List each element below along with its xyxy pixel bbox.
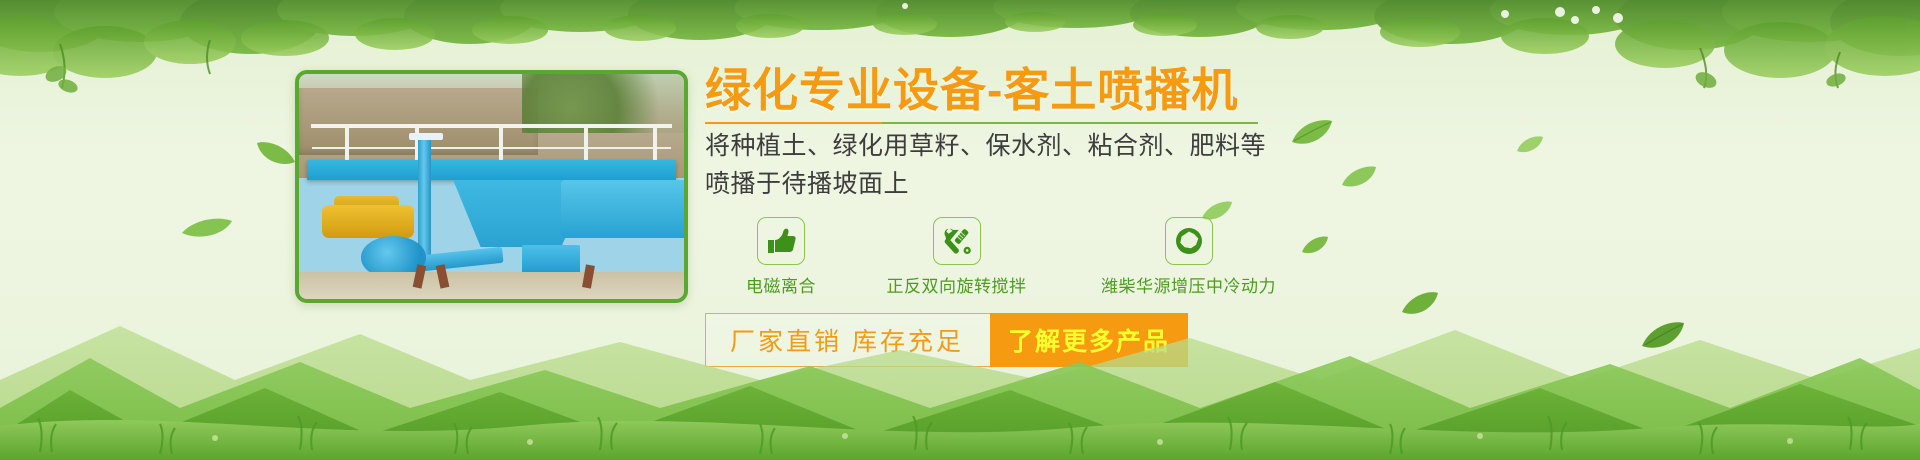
banner-content: 绿化专业设备-客土喷播机 将种植土、绿化用草籽、保水剂、粘合剂、肥料等 喷播于待… (705, 66, 1405, 367)
feature-label-3: 潍柴华源增压中冷动力 (1101, 272, 1276, 297)
thumbs-up-icon (757, 217, 805, 265)
feature-item-1[interactable]: 电磁离合 (705, 217, 857, 297)
page-title: 绿化专业设备-客土喷播机 (705, 66, 1405, 116)
subtitle-line-1: 将种植土、绿化用草籽、保水剂、粘合剂、肥料等 (705, 131, 1405, 162)
product-photo (299, 74, 684, 299)
subtitle-block: 将种植土、绿化用草籽、保水剂、粘合剂、肥料等 喷播于待播坡面上 (705, 131, 1405, 201)
feature-label-2: 正反双向旋转搅拌 (887, 272, 1027, 297)
subtitle-line-2: 喷播于待播坡面上 (705, 169, 1405, 200)
cta-bar: 厂家直销 库存充足 了解更多产品 (705, 313, 1405, 367)
feature-item-3[interactable]: 潍柴华源增压中冷动力 (1056, 217, 1321, 297)
learn-more-button[interactable]: 了解更多产品 (990, 313, 1188, 367)
feature-label-1: 电磁离合 (746, 272, 816, 297)
feature-item-2[interactable]: 正反双向旋转搅拌 (857, 217, 1056, 297)
title-underline (705, 122, 1258, 124)
promo-banner: 绿化专业设备-客土喷播机 将种植土、绿化用草籽、保水剂、粘合剂、肥料等 喷播于待… (0, 0, 1920, 460)
promo-text: 厂家直销 库存充足 (705, 313, 990, 367)
product-photo-frame[interactable] (295, 70, 688, 303)
feature-list: 电磁离合 (705, 217, 1405, 297)
wrench-screwdriver-icon (933, 217, 981, 265)
gear-ring-icon (1165, 217, 1213, 265)
